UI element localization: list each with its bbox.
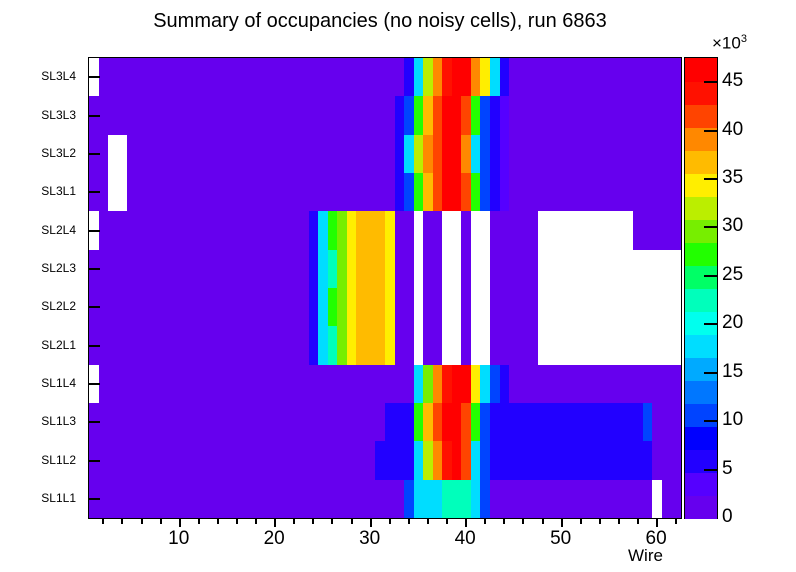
- heatmap-cell: [671, 173, 681, 213]
- heatmap-cell: [671, 288, 681, 328]
- colorbar-band: [685, 150, 717, 174]
- y-axis-tick-label: SL2L1: [41, 338, 76, 352]
- y-axis-tick-label: SL3L2: [41, 146, 76, 160]
- y-axis-tick: [88, 421, 100, 423]
- colorbar-band: [685, 472, 717, 496]
- x-axis-tick: [351, 518, 353, 524]
- x-axis-tick: [179, 518, 181, 527]
- x-axis-tick: [198, 518, 200, 524]
- page-title: Summary of occupancies (no noisy cells),…: [0, 10, 760, 33]
- y-axis-tick: [88, 460, 100, 462]
- heatmap-cell: [671, 250, 681, 290]
- colorbar-band: [685, 104, 717, 128]
- colorbar-band: [685, 426, 717, 450]
- y-axis-tick: [88, 230, 100, 232]
- colorbar-band: [685, 334, 717, 358]
- y-axis-tick-label: SL3L3: [41, 108, 76, 122]
- colorbar-band: [685, 288, 717, 312]
- colorbar-tick: [704, 275, 718, 277]
- x-axis-tick: [141, 518, 143, 524]
- colorbar-band: [685, 380, 717, 404]
- colorbar-tick-label: 5: [722, 458, 733, 480]
- x-axis-title: Wire: [628, 546, 663, 566]
- colorbar-tick: [704, 372, 718, 374]
- colorbar-tick: [704, 420, 718, 422]
- colorbar-tick: [704, 323, 718, 325]
- colorbar-tick-label: 45: [722, 70, 743, 92]
- x-axis-tick: [255, 518, 257, 524]
- x-axis-tick: [427, 518, 429, 524]
- y-axis-tick-label: SL1L1: [41, 491, 76, 505]
- x-axis-tick: [465, 518, 467, 527]
- x-axis-tick: [446, 518, 448, 524]
- y-axis-tick-label: SL3L1: [41, 184, 76, 198]
- colorbar-multiplier: ×103: [712, 33, 747, 54]
- colorbar-band: [685, 173, 717, 197]
- colorbar-multiplier-exponent: 3: [741, 33, 747, 45]
- heatmap-cell: [671, 441, 681, 481]
- y-axis-tick-label: SL2L2: [41, 299, 76, 313]
- colorbar-tick-label: 0: [722, 506, 733, 528]
- x-axis-tick: [618, 518, 620, 524]
- colorbar-tick-label: 20: [722, 312, 743, 334]
- colorbar-tick-label: 35: [722, 167, 743, 189]
- colorbar-tick: [704, 469, 718, 471]
- colorbar-band: [685, 495, 717, 519]
- x-axis-tick: [599, 518, 601, 524]
- colorbar-tick: [704, 226, 718, 228]
- y-axis-tick-label: SL1L2: [41, 453, 76, 467]
- y-axis-tick-label: SL1L4: [41, 376, 76, 390]
- root-canvas: Summary of occupancies (no noisy cells),…: [0, 0, 796, 572]
- heatmap-cell: [671, 96, 681, 136]
- colorbar-multiplier-base: ×10: [712, 34, 741, 53]
- colorbar-tick: [704, 130, 718, 132]
- heatmap-cell: [671, 135, 681, 175]
- colorbar-band: [685, 357, 717, 381]
- heatmap-cell: [671, 365, 681, 405]
- colorbar-band: [685, 265, 717, 289]
- y-axis-tick: [88, 115, 100, 117]
- colorbar-band: [685, 58, 717, 82]
- heatmap-plot-area[interactable]: [88, 57, 682, 519]
- heatmap-cell: [671, 58, 681, 98]
- colorbar-band: [685, 196, 717, 220]
- x-axis-tick-label: 40: [455, 528, 476, 550]
- x-axis-tick: [102, 518, 104, 524]
- x-axis-tick: [656, 518, 658, 527]
- heatmap-cell: [671, 480, 681, 518]
- x-axis-tick: [293, 518, 295, 524]
- colorbar-band: [685, 219, 717, 243]
- x-axis-tick: [312, 518, 314, 524]
- y-axis-tick-label: SL3L4: [41, 69, 76, 83]
- y-axis-tick: [88, 268, 100, 270]
- y-axis-tick: [88, 153, 100, 155]
- colorbar-tick-label: 15: [722, 361, 743, 383]
- colorbar-tick-label: 25: [722, 264, 743, 286]
- x-axis-tick: [408, 518, 410, 524]
- x-axis-tick-label: 50: [550, 528, 571, 550]
- x-axis-tick: [236, 518, 238, 524]
- x-axis-tick: [522, 518, 524, 524]
- heatmap-cell: [671, 326, 681, 366]
- y-axis-tick: [88, 498, 100, 500]
- colorbar-tick: [704, 81, 718, 83]
- x-axis-tick: [580, 518, 582, 524]
- x-axis-tick: [503, 518, 505, 524]
- colorbar-tick: [704, 178, 718, 180]
- x-axis-tick: [274, 518, 276, 527]
- x-axis-tick: [331, 518, 333, 524]
- y-axis-tick-label: SL2L3: [41, 261, 76, 275]
- colorbar-band: [685, 242, 717, 266]
- x-axis-tick: [675, 518, 677, 524]
- colorbar-band: [685, 403, 717, 427]
- x-axis-tick: [370, 518, 372, 527]
- y-axis-tick: [88, 191, 100, 193]
- heatmap-cell: [671, 211, 681, 251]
- colorbar-tick-label: 10: [722, 409, 743, 431]
- heatmap-cells: [89, 58, 681, 518]
- x-axis-tick: [542, 518, 544, 524]
- y-axis-tick: [88, 76, 100, 78]
- y-axis-tick: [88, 306, 100, 308]
- x-axis-tick: [217, 518, 219, 524]
- x-axis-tick: [637, 518, 639, 524]
- x-axis-tick: [121, 518, 123, 524]
- x-axis-tick: [561, 518, 563, 527]
- x-axis-tick: [160, 518, 162, 524]
- x-axis-tick-label: 10: [168, 528, 189, 550]
- x-axis-tick: [484, 518, 486, 524]
- colorbar-band: [685, 81, 717, 105]
- y-axis-tick: [88, 383, 100, 385]
- y-axis-tick-label: SL1L3: [41, 414, 76, 428]
- x-axis-tick-label: 30: [359, 528, 380, 550]
- x-axis-tick-label: 20: [264, 528, 285, 550]
- heatmap-cell: [671, 403, 681, 443]
- colorbar-tick-label: 40: [722, 119, 743, 141]
- colorbar[interactable]: [684, 57, 718, 519]
- y-axis: SL1L1SL1L2SL1L3SL1L4SL2L1SL2L2SL2L3SL2L4…: [0, 57, 84, 517]
- colorbar-tick-label: 30: [722, 215, 743, 237]
- y-axis-tick-label: SL2L4: [41, 223, 76, 237]
- x-axis-tick: [389, 518, 391, 524]
- y-axis-tick: [88, 345, 100, 347]
